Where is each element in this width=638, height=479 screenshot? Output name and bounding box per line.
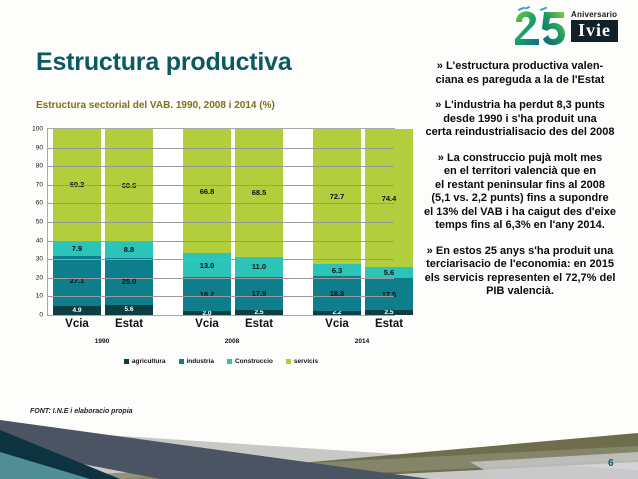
logo-text-block: Aniversario Ivie (571, 10, 618, 42)
chart-legend: agriculturaindustriaConstruccioservicis (47, 358, 395, 365)
bar-segment-industria: 27.1 (53, 256, 101, 306)
slide: Aniversario Ivie Estructura productiva E… (0, 0, 638, 479)
chart-gridline (48, 148, 394, 149)
note-line: terciarisacio de l'economia: en 2015 (404, 258, 636, 272)
note-block: » En estos 25 anys s'ha produit unaterci… (404, 245, 636, 299)
y-axis-tick: 90 (36, 144, 43, 151)
note-line: (5,1 vs. 2,2 punts) fins a supondre (404, 192, 636, 206)
y-axis-tick: 40 (36, 237, 43, 244)
x-axis-label: Vcia (53, 318, 101, 330)
chart-subtitle: Estructura sectorial del VAB. 1990, 2008… (36, 100, 275, 111)
note-line: certa reindustrialisacio des del 2008 (404, 126, 636, 140)
bar-segment-agricultura: 5.6 (105, 305, 153, 315)
bar-segment-construccio: 7.9 (53, 241, 101, 256)
legend-swatch-icon (124, 359, 129, 364)
note-bullet-icon: » (438, 152, 447, 164)
chart-y-axis: 1009080706050403020100 (22, 124, 46, 320)
vab-stacked-bar-chart: 1009080706050403020100 60.27.927.14.960.… (22, 124, 398, 374)
note-line: temps fins al 6,3% en l'any 2014. (404, 219, 636, 233)
legend-item-construccio[interactable]: Construccio (227, 358, 273, 365)
chart-gridline (48, 241, 394, 242)
note-line: » En estos 25 anys s'ha produit una (404, 245, 636, 259)
bar-segment-agricultura: 4.9 (53, 306, 101, 315)
chart-gridline (48, 185, 394, 186)
legend-swatch-icon (227, 359, 232, 364)
chart-gridline (48, 203, 394, 204)
legend-label: servicis (294, 358, 318, 365)
x-axis-label: Estat (105, 318, 153, 330)
ivie-logo: Aniversario Ivie (512, 4, 632, 48)
legend-item-agricultura[interactable]: agricultura (124, 358, 166, 365)
chart-gridline (48, 222, 394, 223)
chart-plot-area: 60.27.927.14.960.68.825.05.666.813.018.2… (47, 128, 395, 316)
logo-25-icon (512, 6, 568, 46)
y-axis-tick: 70 (36, 181, 43, 188)
y-axis-tick: 60 (36, 200, 43, 207)
group-year-label: 2014 (355, 338, 369, 345)
legend-swatch-icon (286, 359, 291, 364)
note-bullet-icon: » (437, 60, 446, 72)
note-line: el 13% del VAB i ha caigut des d'eixe (404, 206, 636, 220)
chart-gridline (48, 296, 394, 297)
x-axis-label: Estat (235, 318, 283, 330)
legend-item-servicis[interactable]: servicis (286, 358, 318, 365)
note-line: » La construccio pujà molt mes (404, 152, 636, 166)
note-line: PIB valencià. (404, 285, 636, 299)
y-axis-tick: 80 (36, 163, 43, 170)
y-axis-tick: 30 (36, 256, 43, 263)
note-line: desde 1990 i s'ha produit una (404, 113, 636, 127)
y-axis-tick: 20 (36, 274, 43, 281)
chart-gridline (48, 278, 394, 279)
chart-gridline (48, 259, 394, 260)
legend-swatch-icon (179, 359, 184, 364)
bar-segment-industria: 17.9 (235, 277, 283, 310)
note-line: » L'industria ha perdut 8,3 punts (404, 99, 636, 113)
note-block: » L'estructura productiva valen-ciana es… (404, 60, 636, 87)
bar-segment-industria: 18.8 (313, 276, 361, 311)
note-line: en el territori valencià que en (404, 165, 636, 179)
x-axis-label: Vcia (313, 318, 361, 330)
note-block: » L'industria ha perdut 8,3 puntsdesde 1… (404, 99, 636, 140)
note-bullet-icon: » (427, 245, 436, 257)
y-axis-tick: 10 (36, 293, 43, 300)
bar-segment-agricultura: 2.2 (313, 311, 361, 315)
notes-column: » L'estructura productiva valen-ciana es… (404, 60, 636, 311)
bar-segment-construccio: 8.8 (105, 242, 153, 258)
chart-group-year-labels: 199020082014 (47, 338, 395, 350)
legend-label: agricultura (132, 358, 166, 365)
logo-brand-name: Ivie (571, 20, 618, 42)
y-axis-tick: 100 (32, 126, 43, 133)
group-year-label: 2008 (225, 338, 239, 345)
note-block: » La construccio pujà molt mesen el terr… (404, 152, 636, 233)
bar-segment-construccio: 6.3 (313, 264, 361, 276)
note-line: el restant peninsular fins al 2008 (404, 179, 636, 193)
bar-segment-servicis: 72.7 (313, 129, 361, 264)
y-axis-tick: 50 (36, 219, 43, 226)
x-axis-label: Estat (365, 318, 413, 330)
logo-anniversary-label: Aniversario (571, 10, 617, 19)
legend-item-industria[interactable]: industria (179, 358, 214, 365)
note-line: » L'estructura productiva valen- (404, 60, 636, 74)
y-axis-tick: 0 (39, 312, 43, 319)
bar-segment-agricultura: 2.5 (235, 310, 283, 315)
legend-label: industria (187, 358, 214, 365)
note-line: els servicis representen el 72,7% del (404, 272, 636, 286)
page-number: 6 (608, 458, 614, 469)
page-title: Estructura productiva (36, 48, 292, 77)
bar-segment-construccio: 13.0 (183, 253, 231, 277)
group-year-label: 1990 (95, 338, 109, 345)
note-line: ciana es pareguda a la de l'Estat (404, 74, 636, 88)
source-note: FONT: I.N.E i elaboracio propia (30, 408, 133, 415)
bar-segment-agricultura: 2.5 (365, 310, 413, 315)
bar-segment-industria: 25.0 (105, 258, 153, 305)
bar-segment-agricultura: 2.0 (183, 311, 231, 315)
chart-gridline (48, 166, 394, 167)
bar-segment-industria: 18.2 (183, 277, 231, 311)
x-axis-label: Vcia (183, 318, 231, 330)
legend-label: Construccio (235, 358, 273, 365)
note-bullet-icon: » (435, 99, 444, 111)
